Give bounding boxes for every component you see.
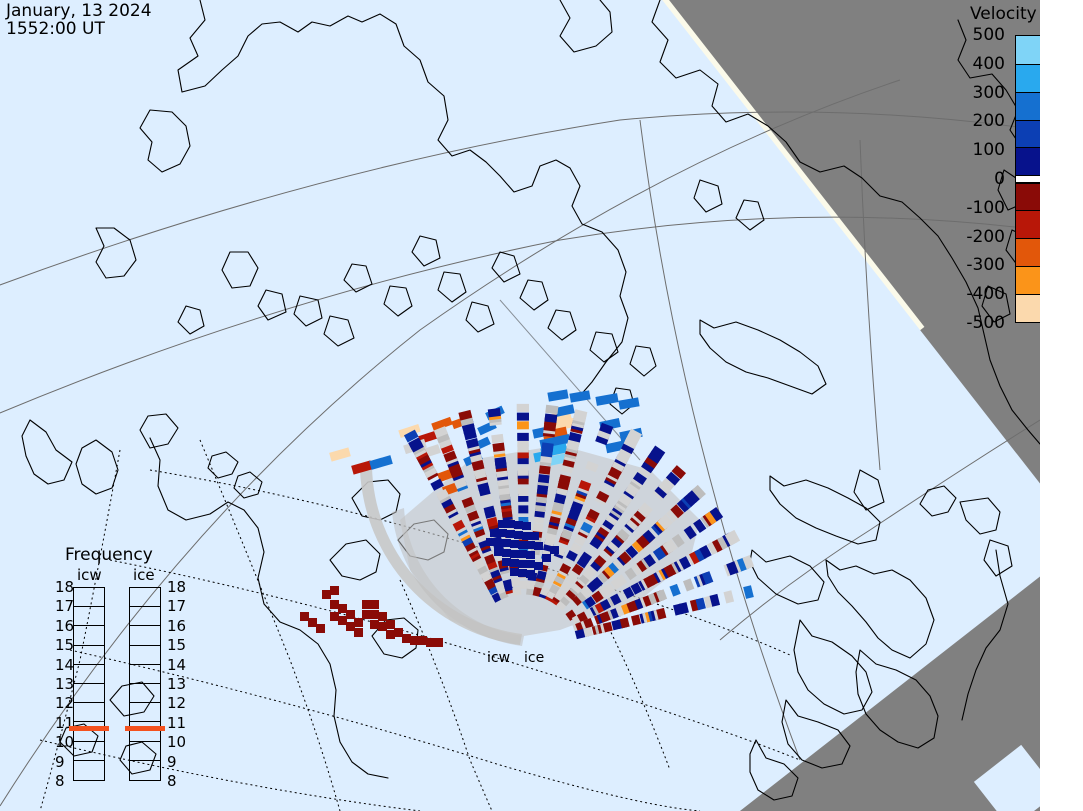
frequency-scale-segment — [130, 761, 160, 780]
radar-cell[interactable] — [402, 634, 411, 643]
frequency-tick-label: 14 — [55, 656, 74, 674]
radar-cell[interactable] — [308, 618, 317, 627]
radar-cell[interactable] — [534, 542, 543, 550]
radar-cell[interactable] — [547, 389, 568, 401]
radar-cell[interactable] — [329, 447, 351, 461]
colorbar-segment — [1016, 36, 1042, 64]
radar-cell[interactable] — [555, 404, 574, 417]
radar-cell[interactable] — [330, 612, 339, 621]
radar-cell[interactable] — [369, 455, 393, 470]
date-label: January, 13 2024 — [6, 1, 152, 21]
frequency-scale-segment — [130, 703, 160, 722]
radar-cell[interactable] — [378, 622, 387, 631]
radar-cell[interactable] — [518, 550, 527, 558]
radar-cell[interactable] — [683, 578, 694, 591]
time-label: 1552:00 UT — [6, 19, 105, 39]
radar-cell[interactable] — [522, 532, 531, 540]
colorbar-scale[interactable] — [1015, 35, 1043, 323]
radar-cell[interactable] — [502, 558, 511, 566]
frequency-panel: Frequency icw ice 18171615141312111098 1… — [55, 545, 190, 795]
radar-cell[interactable] — [518, 488, 528, 496]
radar-cell[interactable] — [541, 442, 553, 451]
frequency-value-marker-ice — [125, 726, 165, 731]
frequency-tick-label: 10 — [167, 733, 186, 751]
frequency-scale-segment — [74, 703, 104, 722]
frequency-title: Frequency — [65, 545, 153, 565]
timestamp-block: January, 13 20241552:00 UT — [6, 2, 152, 38]
radar-cell[interactable] — [533, 523, 544, 532]
frequency-scale-segment — [130, 626, 160, 645]
radar-cell[interactable] — [362, 610, 371, 619]
frequency-scale-segment — [74, 626, 104, 645]
radar-cell[interactable] — [490, 529, 499, 537]
frequency-bar-icw[interactable] — [73, 587, 105, 781]
radar-cell[interactable] — [486, 538, 495, 546]
radar-cell[interactable] — [488, 408, 501, 417]
colorbar-tick-label: 500 — [973, 25, 1005, 45]
radar-cell[interactable] — [498, 529, 507, 537]
radar-cell[interactable] — [394, 628, 403, 637]
radar-cell[interactable] — [517, 404, 529, 412]
radar-cell[interactable] — [370, 620, 379, 629]
frequency-col-label-ice: ice — [133, 566, 155, 584]
colorbar-segment — [1016, 238, 1042, 266]
radar-cell[interactable] — [510, 568, 519, 576]
colorbar-tick-label: 200 — [973, 111, 1005, 131]
radar-cell[interactable] — [330, 600, 339, 609]
frequency-tick-label: 18 — [55, 578, 74, 596]
frequency-tick-label: 12 — [55, 694, 74, 712]
frequency-scale-segment — [74, 742, 104, 761]
radar-cell[interactable] — [338, 616, 347, 625]
frequency-scale-segment — [74, 646, 104, 665]
origin-label-icw: icw — [487, 650, 510, 666]
frequency-scale-segment — [130, 607, 160, 626]
frequency-tick-label: 8 — [55, 772, 65, 790]
radar-cell[interactable] — [494, 457, 506, 466]
radar-cell[interactable] — [517, 433, 529, 441]
origin-label-ice: ice — [524, 650, 544, 666]
frequency-scale-segment — [74, 665, 104, 684]
radar-cell[interactable] — [526, 560, 535, 568]
radar-cell[interactable] — [542, 554, 551, 562]
radar-cell[interactable] — [354, 628, 363, 637]
radar-cell[interactable] — [492, 443, 504, 452]
radar-cell[interactable] — [514, 521, 523, 529]
radar-cell[interactable] — [518, 560, 527, 568]
radar-cell[interactable] — [386, 630, 395, 639]
colorbar-zero-gap — [1016, 175, 1042, 182]
frequency-tick-label: 17 — [55, 597, 74, 615]
radar-cell[interactable] — [618, 397, 639, 409]
radar-cell[interactable] — [530, 532, 539, 540]
radar-cell[interactable] — [519, 581, 527, 589]
colorbar-segment — [1016, 210, 1042, 238]
radar-cell[interactable] — [354, 618, 363, 627]
radar-cell[interactable] — [506, 520, 515, 528]
radar-cell[interactable] — [631, 614, 641, 625]
radar-cell[interactable] — [545, 405, 558, 414]
radar-cell[interactable] — [569, 390, 590, 402]
radar-cell[interactable] — [544, 414, 557, 423]
radar-cell[interactable] — [518, 569, 527, 577]
radar-cell[interactable] — [538, 474, 550, 483]
frequency-scale-segment — [74, 607, 104, 626]
radar-cell[interactable] — [526, 541, 535, 549]
frequency-tick-label: 15 — [167, 636, 186, 654]
radar-cell[interactable] — [526, 570, 535, 578]
radar-cell[interactable] — [362, 600, 371, 609]
colorbar-segment — [1016, 294, 1042, 322]
colorbar-tick-label: -300 — [966, 255, 1005, 275]
radar-cell[interactable] — [494, 548, 503, 556]
colorbar-tick-label: 0 — [994, 169, 1005, 189]
frequency-tick-label: 17 — [167, 597, 186, 615]
radar-cell[interactable] — [338, 604, 347, 613]
radar-cell[interactable] — [426, 638, 435, 647]
colorbar-segment — [1016, 183, 1042, 211]
frequency-scale-segment — [74, 761, 104, 780]
radar-cell[interactable] — [491, 434, 504, 443]
colorbar-segment — [1016, 120, 1042, 148]
radar-cell[interactable] — [346, 610, 355, 619]
colorbar-tick-label: -400 — [966, 284, 1005, 304]
frequency-scale-segment — [130, 742, 160, 761]
frequency-tick-label: 14 — [167, 656, 186, 674]
frequency-value-marker-icw — [69, 726, 109, 731]
radar-cell[interactable] — [526, 551, 535, 559]
frequency-tick-label: 9 — [55, 753, 65, 771]
frequency-tick-label: 16 — [55, 617, 74, 635]
radar-cell[interactable] — [510, 540, 519, 548]
radar-cell[interactable] — [534, 562, 543, 570]
radar-cell[interactable] — [346, 622, 355, 631]
radar-cell[interactable] — [494, 539, 503, 547]
radar-cell[interactable] — [539, 465, 551, 474]
frequency-tick-label: 10 — [55, 733, 74, 751]
radar-cell[interactable] — [322, 590, 331, 599]
radar-cell[interactable] — [434, 638, 443, 647]
colorbar-segment — [1016, 147, 1042, 175]
radar-cell[interactable] — [724, 590, 735, 603]
colorbar-segment — [1016, 266, 1042, 294]
radar-cell[interactable] — [410, 636, 419, 645]
frequency-tick-label: 18 — [167, 578, 186, 596]
right-white-margin — [1040, 0, 1083, 811]
frequency-tick-label: 8 — [167, 772, 177, 790]
frequency-tick-label: 13 — [55, 675, 74, 693]
radar-cell[interactable] — [511, 578, 520, 587]
radar-map-screenshot: icw ice January, 13 20241552:00 UT Frequ… — [0, 0, 1083, 811]
radar-cell[interactable] — [510, 550, 519, 558]
radar-cell[interactable] — [517, 421, 529, 429]
radar-cell[interactable] — [300, 612, 309, 621]
radar-cell[interactable] — [386, 620, 395, 629]
radar-cell[interactable] — [518, 541, 527, 549]
radar-cell[interactable] — [502, 539, 511, 547]
radar-cell[interactable] — [595, 393, 618, 406]
colorbar-segment — [1016, 92, 1042, 120]
frequency-tick-label: 12 — [167, 694, 186, 712]
radar-cell[interactable] — [517, 413, 529, 421]
frequency-scale-segment — [130, 684, 160, 703]
frequency-tick-label: 15 — [55, 636, 74, 654]
colorbar-tick-label: 100 — [973, 140, 1005, 160]
radar-cell[interactable] — [498, 520, 507, 528]
radar-cell[interactable] — [502, 549, 511, 557]
radar-cell[interactable] — [514, 531, 523, 539]
frequency-tick-label: 9 — [167, 753, 177, 771]
radar-cell[interactable] — [669, 584, 680, 597]
radar-cell[interactable] — [506, 530, 515, 538]
colorbar-tick-label: -100 — [966, 198, 1005, 218]
frequency-scale-segment — [74, 684, 104, 703]
colorbar-tick-label: -500 — [966, 313, 1005, 333]
radar-cell[interactable] — [550, 546, 559, 554]
radar-cell[interactable] — [330, 586, 339, 595]
frequency-tick-label: 13 — [167, 675, 186, 693]
colorbar-segment — [1016, 64, 1042, 92]
radar-cell[interactable] — [510, 559, 519, 567]
frequency-tick-label: 11 — [167, 714, 186, 732]
colorbar-tick-label: -200 — [966, 227, 1005, 247]
radar-cell[interactable] — [418, 636, 427, 645]
radar-cell[interactable] — [378, 612, 387, 621]
radar-cell[interactable] — [370, 610, 379, 619]
radar-cell[interactable] — [518, 505, 528, 513]
frequency-scale-segment — [130, 588, 160, 607]
radar-cell[interactable] — [316, 624, 325, 633]
frequency-tick-label: 16 — [167, 617, 186, 635]
radar-cell[interactable] — [522, 522, 531, 530]
radar-cell[interactable] — [743, 585, 754, 599]
radar-cell[interactable] — [370, 600, 379, 609]
colorbar-tick-label: 400 — [973, 54, 1005, 74]
frequency-col-label-icw: icw — [77, 566, 102, 584]
frequency-bar-ice[interactable] — [129, 587, 161, 781]
map-canvas[interactable]: icw ice January, 13 20241552:00 UT Frequ… — [0, 0, 1040, 811]
frequency-scale-segment — [74, 588, 104, 607]
colorbar-tick-label: 300 — [973, 83, 1005, 103]
frequency-scale-segment — [130, 665, 160, 684]
frequency-scale-segment — [130, 646, 160, 665]
radar-cell[interactable] — [518, 468, 529, 476]
